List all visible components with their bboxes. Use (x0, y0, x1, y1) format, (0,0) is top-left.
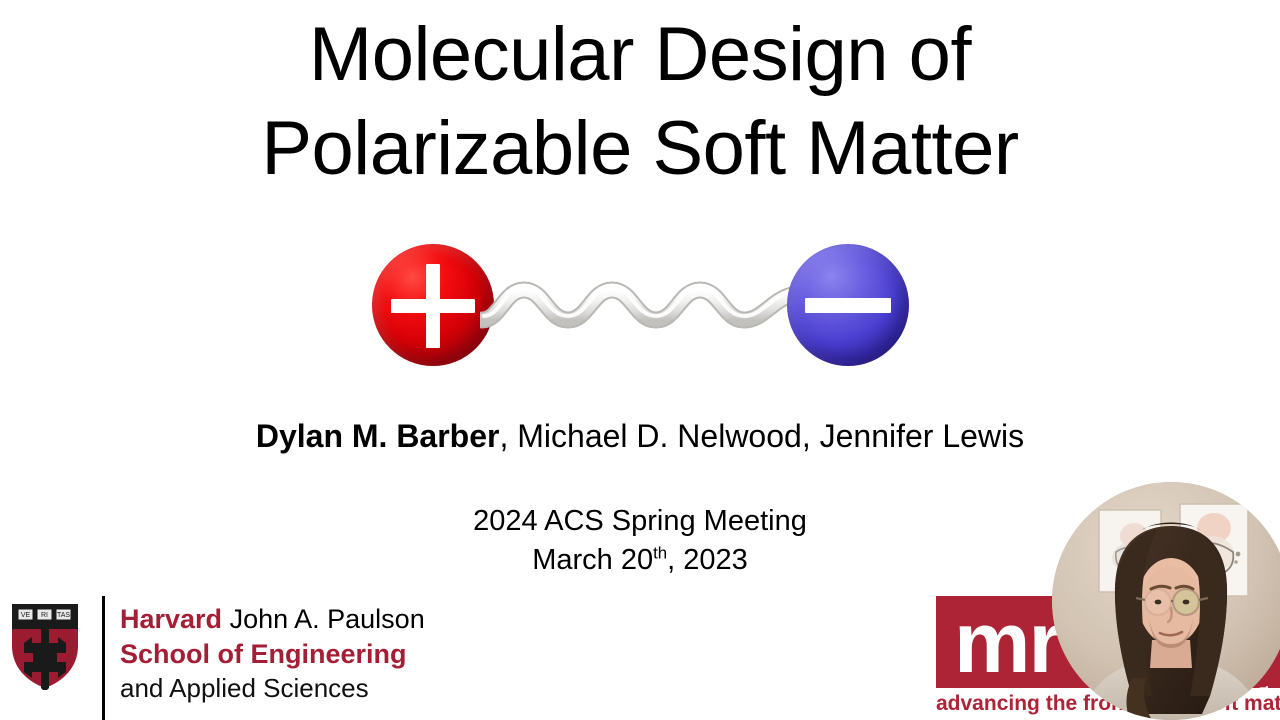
spring-connector-icon (480, 268, 800, 344)
seas-line-2: School of Engineering (120, 637, 460, 671)
plus-sign-vertical-bar (426, 264, 440, 348)
date-ordinal: th (653, 543, 667, 562)
harvard-seas-wordmark: Harvard John A. Paulson School of Engine… (120, 602, 460, 705)
title-line-2: Polarizable Soft Matter (0, 102, 1280, 196)
coauthors: , Michael D. Nelwood, Jennifer Lewis (499, 418, 1024, 454)
author-list: Dylan M. Barber, Michael D. Nelwood, Jen… (0, 414, 1280, 458)
svg-text:VE: VE (21, 612, 31, 619)
harvard-brand-word: Harvard (120, 604, 222, 634)
dipole-illustration (360, 232, 920, 382)
seas-line-1: Harvard John A. Paulson (120, 602, 460, 637)
negative-charge-sphere (787, 244, 909, 366)
svg-text:TAS: TAS (57, 612, 70, 619)
positive-charge-sphere (372, 244, 494, 366)
presenting-author: Dylan M. Barber (256, 418, 500, 454)
svg-text:RI: RI (41, 612, 48, 619)
presentation-slide: Molecular Design of Polarizable Soft Mat… (0, 0, 1280, 720)
seas-line-3: and Applied Sciences (120, 671, 460, 705)
harvard-seas-logo: VE RI TAS Harvard John A. Paulson School… (6, 596, 466, 720)
logo-divider-rule (102, 596, 105, 720)
date-suffix: , 2023 (667, 544, 748, 576)
harvard-veritas-shield-icon: VE RI TAS (10, 602, 80, 690)
date-prefix: March 20 (532, 544, 653, 576)
title-line-1: Molecular Design of (0, 8, 1280, 102)
slide-title: Molecular Design of Polarizable Soft Mat… (0, 8, 1280, 196)
minus-sign-bar (805, 298, 891, 313)
mrsec-wordmark: mr (954, 600, 1060, 686)
paulson-text: John A. Paulson (222, 604, 425, 634)
presenter-video-overlay[interactable] (1052, 482, 1280, 720)
